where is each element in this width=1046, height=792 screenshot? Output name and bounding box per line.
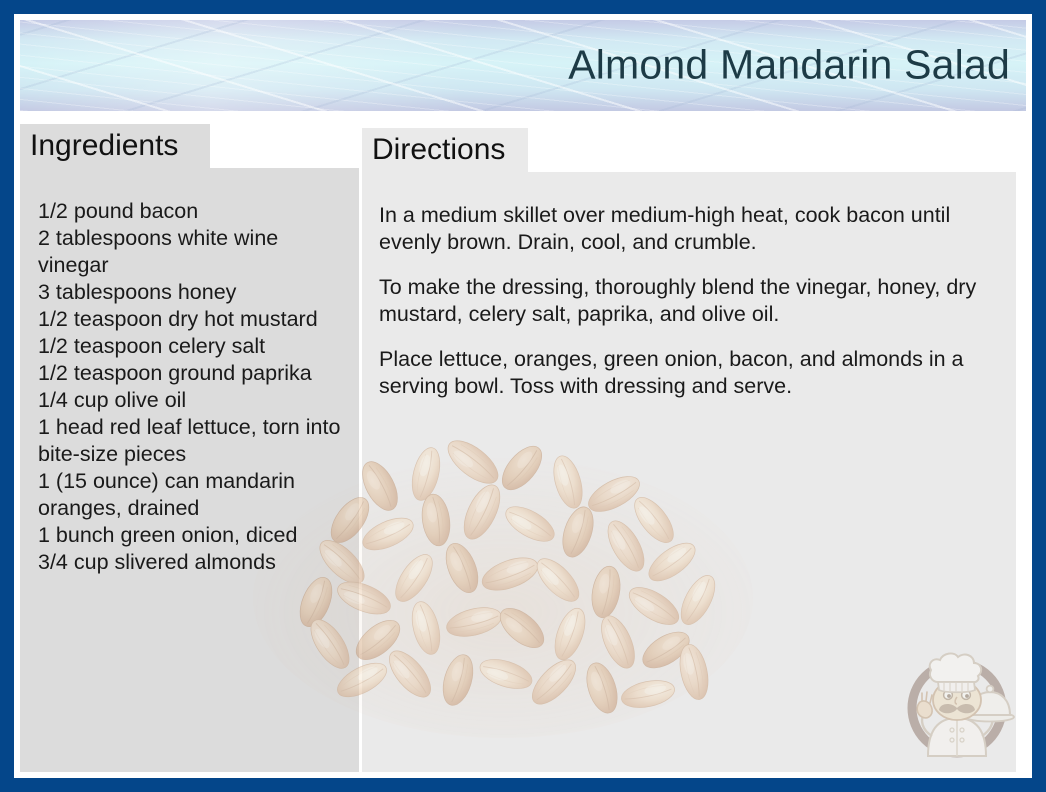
ingredient-item: 3 tablespoons honey xyxy=(38,279,351,306)
header-banner: Almond Mandarin Salad xyxy=(20,20,1026,111)
recipe-card: Almond Mandarin Salad Ingredients 1/2 po… xyxy=(0,0,1046,792)
direction-step: To make the dressing, thoroughly blend t… xyxy=(379,274,1002,328)
directions-panel: In a medium skillet over medium-high hea… xyxy=(362,172,1016,772)
direction-step: In a medium skillet over medium-high hea… xyxy=(379,202,1002,256)
ingredient-item: 1/2 teaspoon celery salt xyxy=(38,333,351,360)
ingredient-item: 3/4 cup slivered almonds xyxy=(38,549,351,576)
ingredient-item: 1/2 teaspoon ground paprika xyxy=(38,360,351,387)
directions-steps: In a medium skillet over medium-high hea… xyxy=(379,202,1002,400)
ingredients-heading: Ingredients xyxy=(20,124,210,168)
ingredient-item: 1 bunch green onion, diced xyxy=(38,522,351,549)
ingredients-list: 1/2 pound bacon2 tablespoons white wine … xyxy=(38,198,351,576)
recipe-page: Almond Mandarin Salad Ingredients 1/2 po… xyxy=(14,14,1032,778)
page-title: Almond Mandarin Salad xyxy=(568,41,1010,88)
directions-heading: Directions xyxy=(362,128,528,172)
ingredient-item: 1/2 teaspoon dry hot mustard xyxy=(38,306,351,333)
ingredient-item: 1 (15 ounce) can mandarin oranges, drain… xyxy=(38,468,351,522)
ingredient-item: 1 head red leaf lettuce, torn into bite-… xyxy=(38,414,351,468)
ingredient-item: 2 tablespoons white wine vinegar xyxy=(38,225,351,279)
ingredients-panel: 1/2 pound bacon2 tablespoons white wine … xyxy=(20,168,359,772)
ingredient-item: 1/4 cup olive oil xyxy=(38,387,351,414)
ingredient-item: 1/2 pound bacon xyxy=(38,198,351,225)
direction-step: Place lettuce, oranges, green onion, bac… xyxy=(379,346,1002,400)
